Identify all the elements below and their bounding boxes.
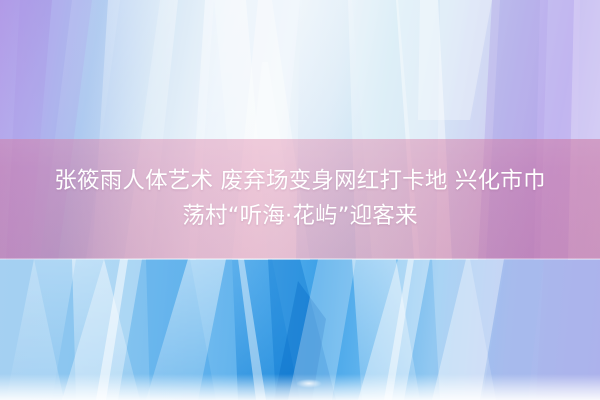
headline-line-2: 荡村“听海·花屿”迎客来 xyxy=(182,199,417,234)
banner-image: 张筱雨人体艺术 废弃场变身网红打卡地 兴化市巾 荡村“听海·花屿”迎客来 xyxy=(0,0,600,400)
background-shards-bottom xyxy=(0,259,600,400)
banner-headline: 张筱雨人体艺术 废弃场变身网红打卡地 兴化市巾 荡村“听海·花屿”迎客来 xyxy=(0,139,600,259)
headline-line-1: 张筱雨人体艺术 废弃场变身网红打卡地 兴化市巾 xyxy=(54,164,545,199)
